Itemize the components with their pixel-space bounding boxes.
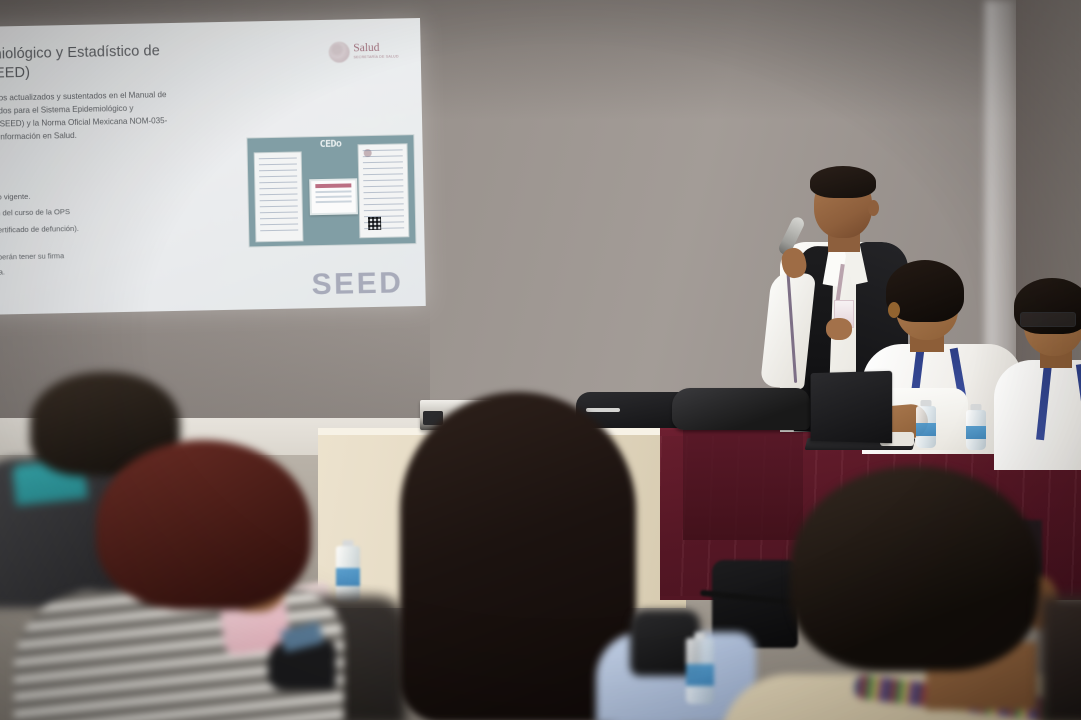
bottle-body: [966, 410, 986, 450]
water-bottle: [686, 632, 714, 704]
presentation-photo-scene: Salud SECRETARÍA DE SALUD istema Epidemi…: [0, 0, 1081, 720]
salud-logo: Salud SECRETARÍA DE SALUD: [328, 40, 399, 62]
screen-title-bar: [315, 183, 351, 188]
slide-title: istema Epidemiológico y Estadístico de e…: [0, 41, 235, 85]
salud-logo-subtitle: SECRETARÍA DE SALUD: [353, 55, 398, 60]
seed-wordmark: SEED: [311, 266, 403, 302]
salud-seal-icon: [328, 41, 349, 62]
ced-panel-label: CEDo: [320, 139, 342, 150]
slide-note-3: Firma de acta responsiva.: [0, 277, 153, 297]
attendee-hair: [790, 466, 1040, 671]
slide-ced-panel: CEDo: [246, 134, 416, 247]
backpack-on-table-right: [672, 388, 810, 430]
panelist-with-glasses: [1006, 278, 1081, 453]
bottle-label: [686, 664, 714, 685]
presenter-ear: [868, 200, 879, 216]
water-bottle: [916, 400, 936, 448]
slide-bullet-5: (correcto llenado del certificado de def…: [0, 219, 144, 240]
laptop-screen: [811, 371, 893, 443]
screen-row: [315, 190, 351, 193]
bottle-body: [916, 406, 936, 448]
bottle-body: [686, 638, 714, 704]
salud-logo-name: Salud: [353, 43, 399, 55]
screen-row: [316, 195, 352, 198]
water-bottle: [966, 404, 986, 450]
slide-bullet-list: Cédula profesional Identificación oficia…: [0, 154, 144, 240]
slide-body-line-4: SA3-2012, en materia de información en S…: [0, 126, 224, 145]
slide-body-paragraph: nforme a los procedimientos actualizados…: [0, 87, 224, 146]
document-lines: [259, 158, 299, 237]
attendee-khaki-shirt: [750, 466, 1081, 720]
eyeglasses-icon: [1020, 312, 1076, 327]
ced-screen-thumbnail: [309, 178, 358, 215]
attendee-hair: [96, 440, 311, 610]
bottle-label: [966, 426, 986, 439]
ced-document-right: [358, 143, 410, 238]
qr-code-icon: [368, 217, 381, 230]
panelist-ear: [888, 302, 900, 318]
attendee-striped-top: [30, 440, 360, 720]
presenter-second-hand: [826, 318, 852, 340]
projected-slide: Salud SECRETARÍA DE SALUD istema Epidemi…: [0, 18, 426, 317]
ced-document-left: [254, 151, 304, 242]
screen-row: [316, 200, 352, 203]
presenter-hair: [810, 166, 876, 198]
slide-notes: Los médicos certificantes, deberán tener…: [0, 248, 153, 297]
panelist2-shirt: [994, 360, 1081, 470]
foreground-shadow-right: [1040, 596, 1081, 720]
bottle-label: [916, 423, 936, 436]
